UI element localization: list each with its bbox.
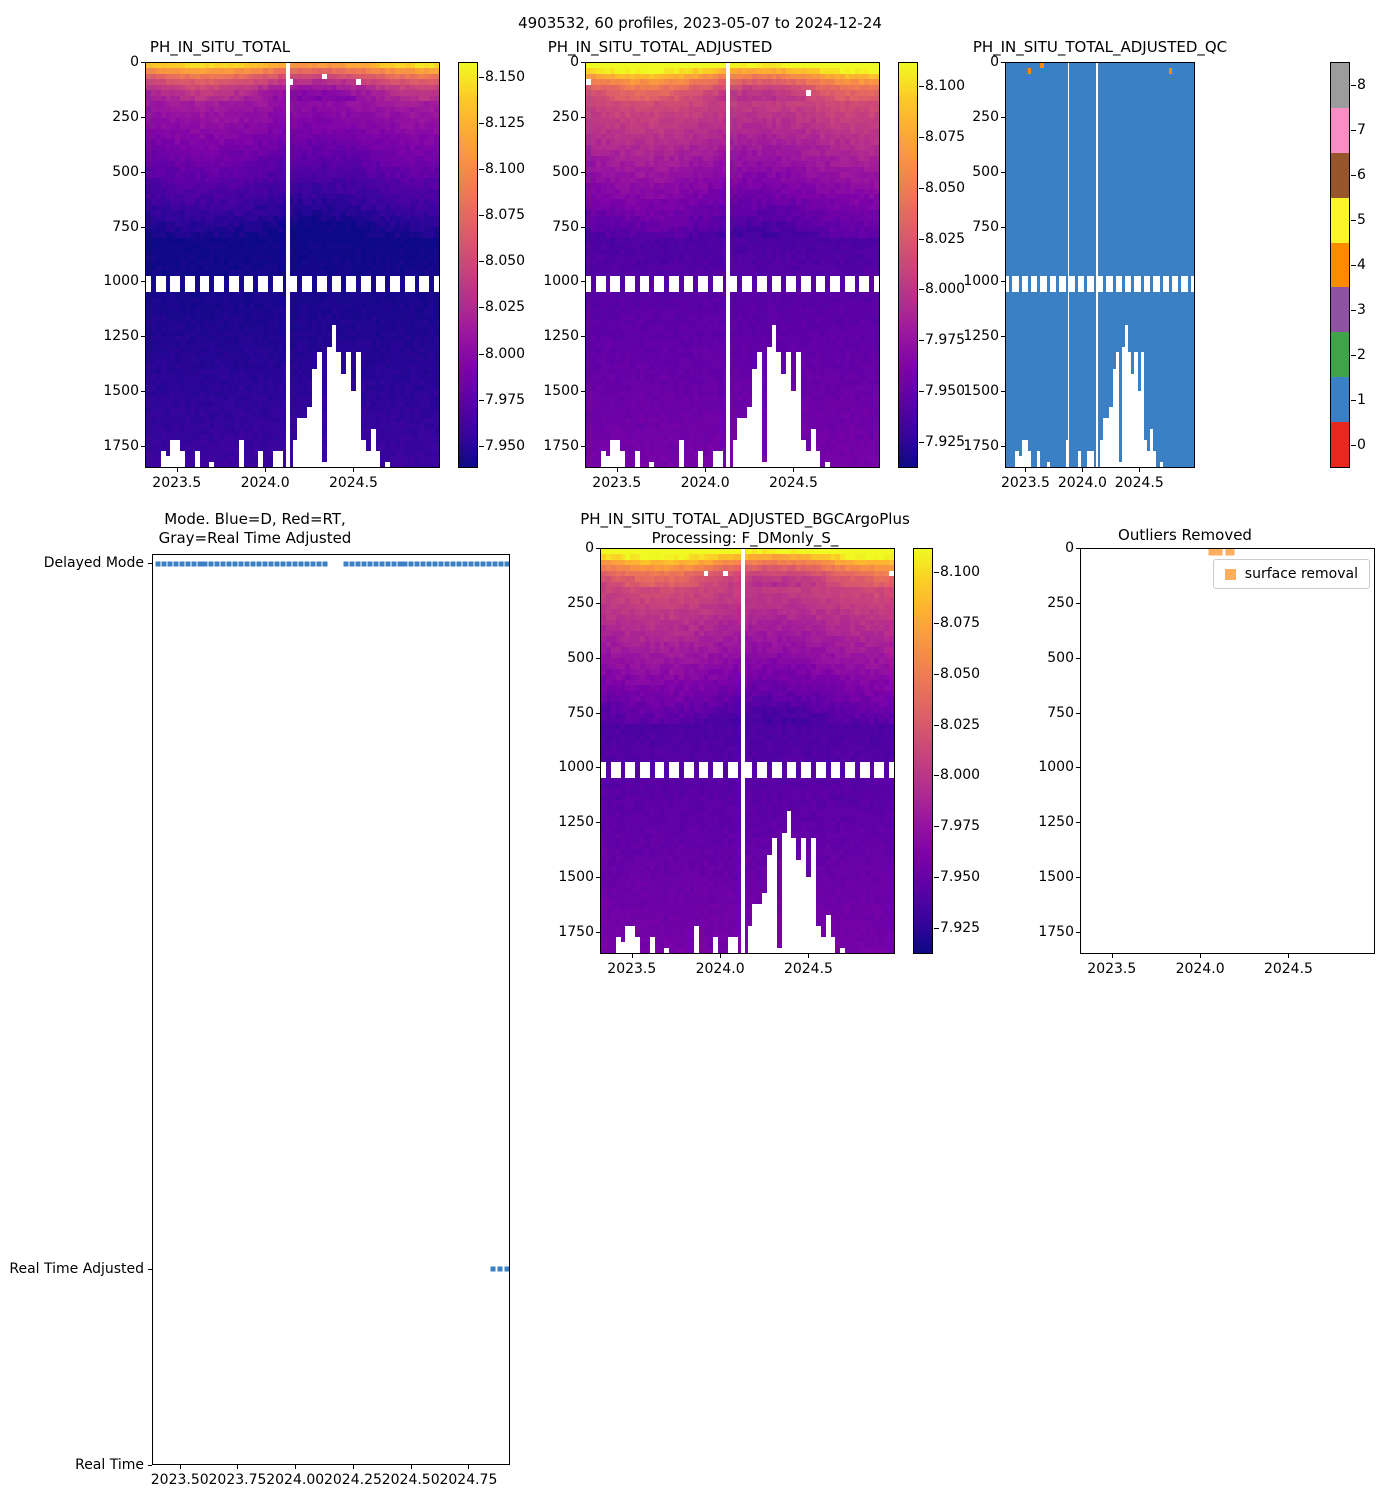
- y-tick: [141, 62, 145, 63]
- mode-point-real-time-adjusted: [490, 1266, 495, 1271]
- mode-point-delayed: [451, 562, 456, 567]
- mode-point-delayed: [323, 562, 328, 567]
- mode-point-delayed: [197, 562, 202, 567]
- colorbar-tick: [934, 877, 939, 878]
- x-tick-label: 2024.5: [769, 475, 818, 491]
- y-tick: [1076, 548, 1080, 549]
- y-tick-label: 250: [959, 109, 999, 125]
- x-tick-label: 2024.0: [696, 961, 745, 977]
- qc-color-segment: [1331, 198, 1349, 243]
- y-tick-label: Real Time: [0, 1457, 144, 1473]
- mode-point-delayed: [191, 562, 196, 567]
- colorbar-tick-label: 7.950: [940, 869, 980, 885]
- y-tick-label: 500: [959, 164, 999, 180]
- y-tick: [1001, 281, 1005, 282]
- heatmap-axes-qc[interactable]: [1005, 62, 1195, 468]
- y-tick: [141, 227, 145, 228]
- mode-point-delayed: [361, 562, 366, 567]
- x-tick: [1200, 954, 1201, 958]
- y-tick-label: 750: [554, 705, 594, 721]
- y-tick-label: 250: [1034, 595, 1074, 611]
- y-tick-label: 750: [539, 219, 579, 235]
- y-tick-label: 1500: [959, 383, 999, 399]
- x-tick-label: 2023.5: [607, 961, 656, 977]
- colorbar-tick-label: 8.000: [940, 767, 980, 783]
- y-tick-label: 1000: [1034, 759, 1074, 775]
- mode-point-delayed: [293, 562, 298, 567]
- y-tick: [141, 281, 145, 282]
- x-tick: [1139, 468, 1140, 472]
- panel-ph-in-situ-total: PH_IN_SITU_TOTAL 02505007501000125015001…: [0, 36, 470, 496]
- mode-point-delayed: [480, 562, 485, 567]
- y-tick-label: 0: [539, 54, 579, 70]
- mode-point-delayed: [263, 562, 268, 567]
- y-tick: [141, 391, 145, 392]
- colorbar-tick-label: 5: [1357, 212, 1366, 228]
- mode-point-delayed: [317, 562, 322, 567]
- colorbar-tick-label: 7.925: [940, 920, 980, 936]
- heatmap-axes-ph-adjusted[interactable]: [585, 62, 880, 468]
- x-tick-label: 2024.75: [439, 1472, 497, 1488]
- mode-point-delayed: [415, 562, 420, 567]
- y-tick-label: 750: [959, 219, 999, 235]
- x-tick-label: 2023.5: [1087, 961, 1136, 977]
- y-tick-label: 500: [1034, 650, 1074, 666]
- y-tick: [1001, 391, 1005, 392]
- colorbar-tick-label: 3: [1357, 302, 1366, 318]
- data-gap: [1096, 63, 1098, 467]
- data-gap: [741, 549, 745, 953]
- colorbar-tick: [934, 928, 939, 929]
- x-tick: [468, 1465, 469, 1469]
- y-tick-label: 1250: [99, 328, 139, 344]
- outlier-marker: [1226, 548, 1235, 555]
- x-tick-label: 2024.0: [241, 475, 290, 491]
- colorbar-tick: [1351, 220, 1356, 221]
- x-tick-label: 2024.5: [1264, 961, 1313, 977]
- y-tick: [581, 62, 585, 63]
- y-tick: [1076, 932, 1080, 933]
- x-tick-label: 2024.25: [324, 1472, 382, 1488]
- colorbar-tick-label: 7: [1357, 122, 1366, 138]
- mode-point-delayed: [221, 562, 226, 567]
- qc-color-segment: [1331, 108, 1349, 153]
- colorbar-tick: [1351, 130, 1356, 131]
- figure-canvas: 4903532, 60 profiles, 2023-05-07 to 2024…: [0, 0, 1400, 1000]
- colorbar-tick: [1351, 175, 1356, 176]
- y-tick-label: Real Time Adjusted: [0, 1261, 144, 1277]
- mode-point-delayed: [385, 562, 390, 567]
- panel-bgcargoplus: PH_IN_SITU_TOTAL_ADJUSTED_BGCArgoPlus Pr…: [520, 508, 990, 998]
- y-tick: [1001, 336, 1005, 337]
- mode-point-delayed: [155, 562, 160, 567]
- qc-color-segment: [1331, 332, 1349, 377]
- y-tick-label: 500: [99, 164, 139, 180]
- mode-point-delayed: [349, 562, 354, 567]
- mode-point-delayed: [269, 562, 274, 567]
- mode-point-delayed: [373, 562, 378, 567]
- colorbar-tick: [934, 623, 939, 624]
- outliers-axes[interactable]: surface removal: [1080, 548, 1375, 954]
- y-tick: [148, 563, 152, 564]
- y-tick: [141, 172, 145, 173]
- data-gap: [1068, 63, 1069, 467]
- colorbar-qc: [1330, 62, 1350, 468]
- mode-point-delayed: [439, 562, 444, 567]
- colorbar-tick-label: 7.975: [940, 818, 980, 834]
- y-tick: [1001, 117, 1005, 118]
- colorbar-tick: [934, 826, 939, 827]
- y-tick-label: 1000: [539, 273, 579, 289]
- x-tick-label: 2024.0: [681, 475, 730, 491]
- y-tick-label: 1000: [554, 759, 594, 775]
- mode-point-delayed: [397, 562, 402, 567]
- y-tick-label: 1750: [959, 438, 999, 454]
- colorbar-tick-label: 8.025: [940, 717, 980, 733]
- panel-title-line1: Mode. Blue=D, Red=RT,: [0, 510, 510, 529]
- y-tick: [581, 227, 585, 228]
- x-tick-label: 2024.5: [1115, 475, 1164, 491]
- mode-point-delayed: [257, 562, 262, 567]
- panel-mode: Mode. Blue=D, Red=RT, Gray=Real Time Adj…: [0, 508, 520, 998]
- y-tick: [1001, 227, 1005, 228]
- outlier-marker: [1213, 548, 1222, 555]
- colorbar-tick: [934, 775, 939, 776]
- y-tick: [596, 932, 600, 933]
- y-tick-label: 1750: [99, 438, 139, 454]
- y-tick-label: 1750: [554, 924, 594, 940]
- qc-color-segment: [1331, 377, 1349, 422]
- colorbar-tick-label: 8.075: [940, 615, 980, 631]
- y-tick: [596, 603, 600, 604]
- mode-point-delayed: [215, 562, 220, 567]
- x-tick: [411, 1465, 412, 1469]
- mode-point-delayed: [367, 562, 372, 567]
- y-tick-label: 750: [1034, 705, 1074, 721]
- qc-color-segment: [1331, 287, 1349, 332]
- panel-ph-adjusted: PH_IN_SITU_TOTAL_ADJUSTED 02505007501000…: [440, 36, 910, 496]
- y-tick-label: 1750: [1034, 924, 1074, 940]
- mode-point-delayed: [355, 562, 360, 567]
- x-tick-label: 2023.75: [209, 1472, 267, 1488]
- legend-surface-removal[interactable]: surface removal: [1213, 559, 1370, 589]
- colorbar-tick: [934, 725, 939, 726]
- x-tick: [353, 1465, 354, 1469]
- y-tick-label: 0: [554, 540, 594, 556]
- x-tick-label: 2024.0: [1176, 961, 1225, 977]
- y-tick: [596, 548, 600, 549]
- x-tick: [1288, 954, 1289, 958]
- data-gap: [286, 63, 290, 467]
- mode-point-delayed: [445, 562, 450, 567]
- mode-point-delayed: [233, 562, 238, 567]
- mode-point-delayed: [167, 562, 172, 567]
- y-tick-label: 500: [554, 650, 594, 666]
- y-tick: [1001, 62, 1005, 63]
- y-tick-label: 0: [99, 54, 139, 70]
- y-tick: [148, 1269, 152, 1270]
- mode-point-delayed: [409, 562, 414, 567]
- mode-point-delayed: [203, 562, 208, 567]
- x-tick: [1112, 954, 1113, 958]
- y-tick: [1076, 658, 1080, 659]
- mode-point-delayed: [179, 562, 184, 567]
- mode-point-delayed: [185, 562, 190, 567]
- mode-point-delayed: [245, 562, 250, 567]
- qc-color-segment: [1331, 422, 1349, 467]
- y-tick: [581, 117, 585, 118]
- mode-point-delayed: [504, 562, 509, 567]
- mode-point-delayed: [173, 562, 178, 567]
- y-tick: [1076, 822, 1080, 823]
- x-tick: [295, 1465, 296, 1469]
- x-tick: [265, 468, 266, 472]
- y-tick-label: 1000: [99, 273, 139, 289]
- panel-title: PH_IN_SITU_TOTAL: [0, 38, 440, 57]
- y-tick: [148, 1465, 152, 1466]
- panel-title-line1: PH_IN_SITU_TOTAL_ADJUSTED_BGCArgoPlus: [520, 510, 970, 529]
- figure-suptitle: 4903532, 60 profiles, 2023-05-07 to 2024…: [0, 14, 1400, 32]
- mode-point-delayed: [468, 562, 473, 567]
- y-tick: [141, 336, 145, 337]
- y-tick: [581, 336, 585, 337]
- mode-point-delayed: [463, 562, 468, 567]
- y-tick-label: 250: [99, 109, 139, 125]
- heatmap-axes-bgcargoplus[interactable]: [600, 548, 895, 954]
- colorbar-tick-label: 1: [1357, 392, 1366, 408]
- legend-swatch-icon: [1225, 569, 1236, 580]
- mode-point-real-time-adjusted: [504, 1266, 509, 1271]
- mode-point-delayed: [457, 562, 462, 567]
- mode-axes[interactable]: [152, 554, 510, 1465]
- mode-point-delayed: [492, 562, 497, 567]
- y-tick-label: 0: [959, 54, 999, 70]
- x-tick-label: 2023.5: [152, 475, 201, 491]
- mode-point-delayed: [421, 562, 426, 567]
- y-tick: [141, 117, 145, 118]
- colorbar-tick-label: 6: [1357, 167, 1366, 183]
- y-tick-label: 1500: [99, 383, 139, 399]
- x-tick: [353, 468, 354, 472]
- panel-outliers-removed: Outliers Removed surface removal 0250500…: [990, 508, 1400, 998]
- x-tick: [177, 468, 178, 472]
- mode-point-delayed: [275, 562, 280, 567]
- y-tick-label: 1750: [539, 438, 579, 454]
- y-tick-label: 1250: [554, 814, 594, 830]
- mode-point-delayed: [379, 562, 384, 567]
- colorbar-tick: [934, 572, 939, 573]
- y-tick: [581, 391, 585, 392]
- x-tick-label: 2024.5: [329, 475, 378, 491]
- heatmap-axes-ph-total[interactable]: [145, 62, 440, 468]
- y-tick-label: 750: [99, 219, 139, 235]
- qc-color-segment: [1331, 153, 1349, 198]
- profile-column: [889, 549, 894, 953]
- y-tick-label: 1500: [539, 383, 579, 399]
- mode-point-delayed: [299, 562, 304, 567]
- colorbar-tick-label: 2: [1357, 347, 1366, 363]
- colorbar-tick-label: 8: [1357, 77, 1366, 93]
- x-tick: [237, 1465, 238, 1469]
- mode-point-delayed: [251, 562, 256, 567]
- x-tick-label: 2024.5: [784, 961, 833, 977]
- y-tick-label: 1000: [959, 273, 999, 289]
- qc-color-segment: [1331, 243, 1349, 288]
- mode-point-delayed: [486, 562, 491, 567]
- mode-point-delayed: [343, 562, 348, 567]
- y-tick-label: 1500: [1034, 869, 1074, 885]
- y-tick-label: 1500: [554, 869, 594, 885]
- qc-color-segment: [1331, 63, 1349, 108]
- panel-title: PH_IN_SITU_TOTAL_ADJUSTED: [440, 38, 880, 57]
- x-tick-label: 2023.5: [1001, 475, 1050, 491]
- legend-label: surface removal: [1245, 566, 1358, 582]
- colorbar-tick: [1351, 400, 1356, 401]
- mode-point-delayed: [427, 562, 432, 567]
- y-tick-label: Delayed Mode: [0, 555, 144, 571]
- x-tick-label: 2024.0: [1058, 475, 1107, 491]
- mode-point-delayed: [498, 562, 503, 567]
- mode-point-delayed: [391, 562, 396, 567]
- colorbar-bgcargoplus: [913, 548, 933, 954]
- panel-title-line2: Gray=Real Time Adjusted: [0, 529, 510, 548]
- profile-column: [874, 63, 879, 467]
- x-tick: [180, 1465, 181, 1469]
- y-tick-label: 0: [1034, 540, 1074, 556]
- profile-column: [434, 63, 439, 467]
- profile-column: [1191, 63, 1194, 467]
- y-tick: [1076, 877, 1080, 878]
- mode-point-delayed: [281, 562, 286, 567]
- mode-point-delayed: [311, 562, 316, 567]
- y-tick: [596, 713, 600, 714]
- y-tick-label: 250: [539, 109, 579, 125]
- mode-point-delayed: [305, 562, 310, 567]
- x-tick-label: 2024.50: [382, 1472, 440, 1488]
- y-tick: [1076, 603, 1080, 604]
- colorbar-tick-label: 4: [1357, 257, 1366, 273]
- x-tick: [617, 468, 618, 472]
- x-tick: [808, 954, 809, 958]
- x-tick-label: 2024.00: [266, 1472, 324, 1488]
- mode-point-delayed: [239, 562, 244, 567]
- y-tick: [1001, 172, 1005, 173]
- x-tick: [720, 954, 721, 958]
- y-tick: [581, 446, 585, 447]
- y-tick-label: 1250: [539, 328, 579, 344]
- colorbar-tick: [934, 674, 939, 675]
- y-tick-label: 1250: [1034, 814, 1074, 830]
- mode-point-delayed: [474, 562, 479, 567]
- y-tick-label: 1250: [959, 328, 999, 344]
- x-tick: [1025, 468, 1026, 472]
- colorbar-tick: [1351, 310, 1356, 311]
- colorbar-tick: [1351, 355, 1356, 356]
- y-tick: [141, 446, 145, 447]
- panel-title: PH_IN_SITU_TOTAL_ADJUSTED_QC: [880, 38, 1320, 57]
- x-tick-label: 2023.5: [592, 475, 641, 491]
- x-tick: [632, 954, 633, 958]
- mode-point-delayed: [403, 562, 408, 567]
- y-tick: [581, 281, 585, 282]
- mode-point-real-time-adjusted: [497, 1266, 502, 1271]
- y-tick: [596, 767, 600, 768]
- colorbar-tick-label: 8.100: [940, 564, 980, 580]
- y-tick: [596, 877, 600, 878]
- colorbar-tick-label: 8.050: [940, 666, 980, 682]
- colorbar-tick: [1351, 265, 1356, 266]
- colorbar-tick: [1351, 445, 1356, 446]
- y-tick: [596, 822, 600, 823]
- x-tick: [793, 468, 794, 472]
- mode-point-delayed: [433, 562, 438, 567]
- mode-point-delayed: [227, 562, 232, 567]
- y-tick-label: 250: [554, 595, 594, 611]
- colorbar-tick-label: 0: [1357, 437, 1366, 453]
- data-gap: [726, 63, 730, 467]
- y-tick: [1076, 713, 1080, 714]
- y-tick: [1076, 767, 1080, 768]
- y-tick: [581, 172, 585, 173]
- x-tick: [705, 468, 706, 472]
- mode-point-delayed: [287, 562, 292, 567]
- panel-ph-adjusted-qc: PH_IN_SITU_TOTAL_ADJUSTED_QC 02505007501…: [880, 36, 1400, 496]
- mode-point-delayed: [161, 562, 166, 567]
- y-tick: [1001, 446, 1005, 447]
- mode-point-delayed: [209, 562, 214, 567]
- y-tick-label: 500: [539, 164, 579, 180]
- x-tick-label: 2023.50: [151, 1472, 209, 1488]
- colorbar-tick: [1351, 85, 1356, 86]
- x-tick: [1082, 468, 1083, 472]
- y-tick: [596, 658, 600, 659]
